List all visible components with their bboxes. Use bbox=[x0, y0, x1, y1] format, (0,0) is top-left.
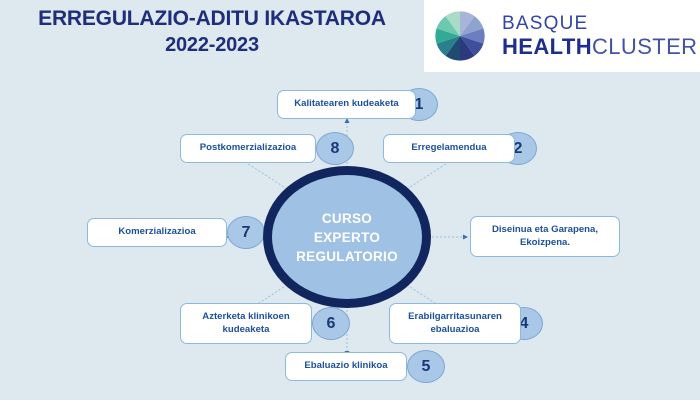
process-node-label-4[interactable]: Erabilgarritasunaren ebaluazioa bbox=[389, 303, 521, 344]
brand-name-cluster: CLUSTER bbox=[592, 34, 698, 59]
process-node-2[interactable]: Erregelamendua2 bbox=[383, 132, 537, 165]
process-node-label-7[interactable]: Komerzializazioa bbox=[87, 218, 227, 247]
process-node-label-6[interactable]: Azterketa klinikoen kudeaketa bbox=[180, 303, 312, 344]
process-node-label-1[interactable]: Kalitatearen kudeaketa bbox=[277, 90, 416, 119]
process-node-6[interactable]: 6Azterketa klinikoen kudeaketa bbox=[180, 303, 334, 344]
process-node-label-3[interactable]: Diseinua eta Garapena, Ekoizpena. bbox=[470, 216, 620, 257]
process-node-label-5[interactable]: Ebaluazio klinikoa bbox=[285, 352, 407, 381]
process-node-4[interactable]: Erabilgarritasunaren ebaluazioa4 bbox=[389, 303, 543, 344]
process-node-3[interactable]: Diseinua eta Garapena, Ekoizpena. bbox=[470, 216, 620, 257]
brand-name-basque: BASQUE bbox=[502, 14, 697, 33]
radial-process-diagram: CURSO EXPERTO REGULATORIO Kalitatearen k… bbox=[0, 72, 700, 400]
page-title-line-1: ERREGULAZIO-ADITU IKASTAROA bbox=[0, 6, 424, 32]
hub-line-2: EXPERTO bbox=[314, 228, 380, 247]
process-node-badge-8: 8 bbox=[316, 132, 354, 165]
pinwheel-logo-icon bbox=[432, 8, 488, 64]
center-hub: CURSO EXPERTO REGULATORIO bbox=[263, 166, 431, 308]
process-node-label-2[interactable]: Erregelamendua bbox=[383, 134, 515, 163]
process-node-8[interactable]: 8Postkomerzializazioa bbox=[180, 132, 338, 165]
brand-logo-wordmark: BASQUE HEALTHCLUSTER bbox=[502, 14, 697, 58]
process-node-badge-5: 5 bbox=[407, 350, 445, 383]
brand-logo-panel: BASQUE HEALTHCLUSTER bbox=[424, 0, 700, 72]
process-node-badge-7: 7 bbox=[227, 216, 265, 249]
process-node-5[interactable]: 5Ebaluazio klinikoa bbox=[285, 350, 429, 383]
process-node-label-8[interactable]: Postkomerzializazioa bbox=[180, 134, 316, 163]
page-title: ERREGULAZIO-ADITU IKASTAROA 2022-2023 bbox=[0, 6, 424, 58]
hub-line-3: REGULATORIO bbox=[296, 247, 398, 266]
process-node-7[interactable]: 7Komerzializazioa bbox=[87, 216, 249, 249]
page-title-line-2: 2022-2023 bbox=[0, 32, 424, 58]
brand-name-health: HEALTH bbox=[502, 34, 592, 59]
process-node-1[interactable]: Kalitatearen kudeaketa1 bbox=[277, 88, 438, 121]
hub-line-1: CURSO bbox=[322, 209, 372, 228]
process-node-badge-6: 6 bbox=[312, 307, 350, 340]
